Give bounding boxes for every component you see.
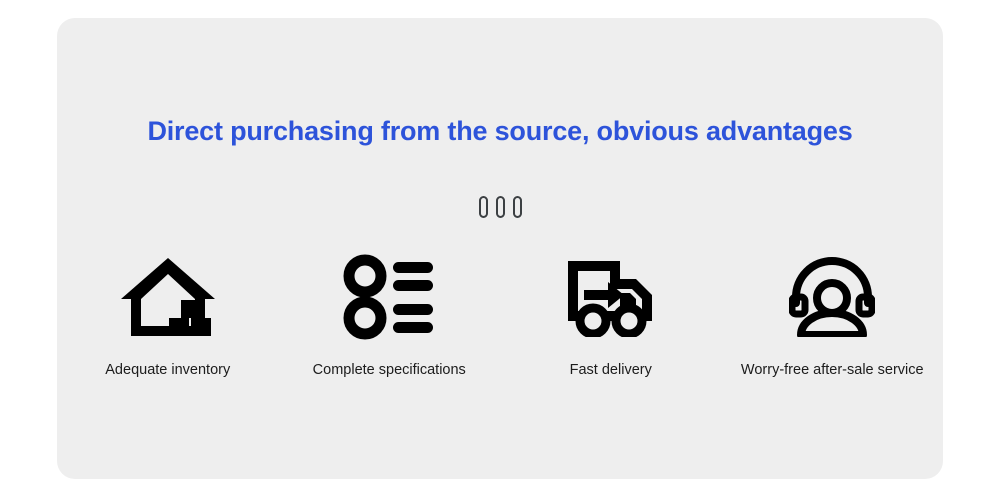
warehouse-icon: [117, 254, 219, 340]
feature-label-specifications: Complete specifications: [313, 362, 466, 378]
feature-item-specifications: Complete specifications: [283, 254, 495, 378]
specifications-list-icon: [343, 254, 435, 340]
capsule-divider-dot-2: [496, 196, 505, 218]
capsule-divider-dot-1: [479, 196, 488, 218]
customer-service-headset-icon: [789, 254, 875, 340]
feature-label-delivery: Fast delivery: [570, 362, 652, 378]
feature-item-service: Worry-free after-sale service: [726, 254, 938, 378]
capsule-divider: [57, 196, 943, 218]
feature-item-delivery: Fast delivery: [505, 254, 717, 378]
banner-title: Direct purchasing from the source, obvio…: [57, 116, 943, 147]
feature-item-inventory: Adequate inventory: [62, 254, 274, 378]
page-root: Direct purchasing from the source, obvio…: [0, 0, 1000, 499]
feature-label-service: Worry-free after-sale service: [741, 362, 924, 378]
delivery-truck-icon: [564, 254, 658, 340]
feature-list: Adequate inventory Complete specificatio…: [57, 254, 943, 378]
promo-banner-card: Direct purchasing from the source, obvio…: [57, 18, 943, 479]
feature-label-inventory: Adequate inventory: [105, 362, 230, 378]
capsule-divider-dot-3: [513, 196, 522, 218]
